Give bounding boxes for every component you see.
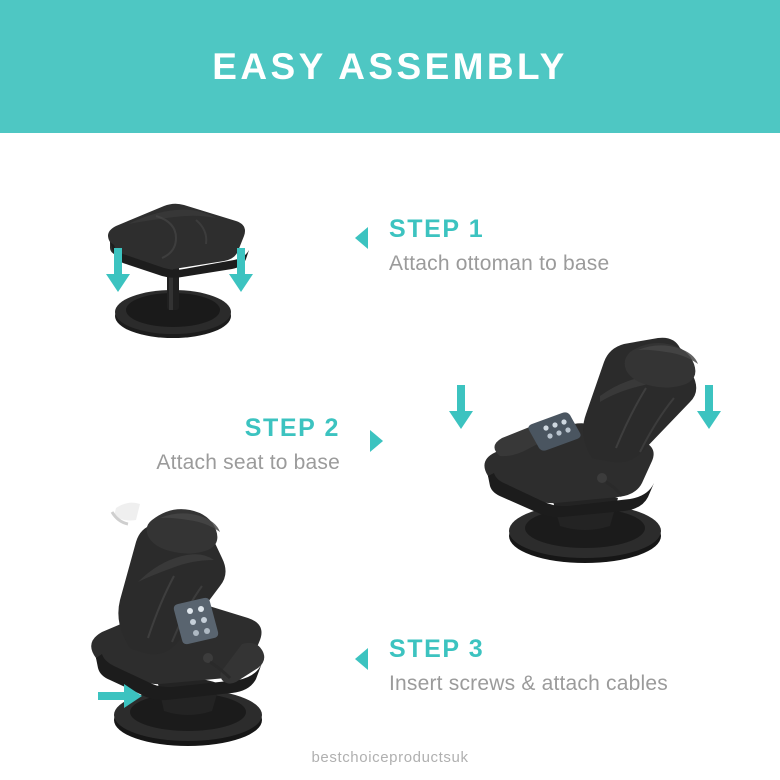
- step-1-text-block: STEP 1 Attach ottoman to base: [389, 215, 609, 277]
- step-2-description: Attach seat to base: [66, 449, 340, 476]
- page-title: EASY ASSEMBLY: [212, 46, 567, 88]
- header-banner: EASY ASSEMBLY: [0, 0, 780, 133]
- step-3-description: Insert screws & attach cables: [389, 670, 668, 697]
- step-1-pointer-icon: [355, 227, 368, 249]
- step-1-title: STEP 1: [389, 215, 609, 244]
- step-3-pointer-icon: [355, 648, 368, 670]
- step-2-pointer-icon: [370, 430, 383, 452]
- gaming-chair-illustration: [440, 336, 720, 566]
- product-gaming-chair-on-base: [440, 336, 720, 566]
- step-3-text-block: STEP 3 Insert screws & attach cables: [389, 635, 668, 697]
- footer-watermark: bestchoiceproductsuk: [0, 749, 780, 766]
- right-arrow-step3: [98, 683, 142, 714]
- step-1-description: Attach ottoman to base: [389, 250, 609, 277]
- down-arrow-left-step1: [105, 248, 131, 297]
- assembly-infographic: EASY ASSEMBLY: [0, 0, 780, 780]
- step-2-title: STEP 2: [66, 414, 340, 443]
- step-3-title: STEP 3: [389, 635, 668, 664]
- down-arrow-right-step1: [228, 248, 254, 297]
- step-2-text-block: STEP 2 Attach seat to base: [66, 414, 340, 476]
